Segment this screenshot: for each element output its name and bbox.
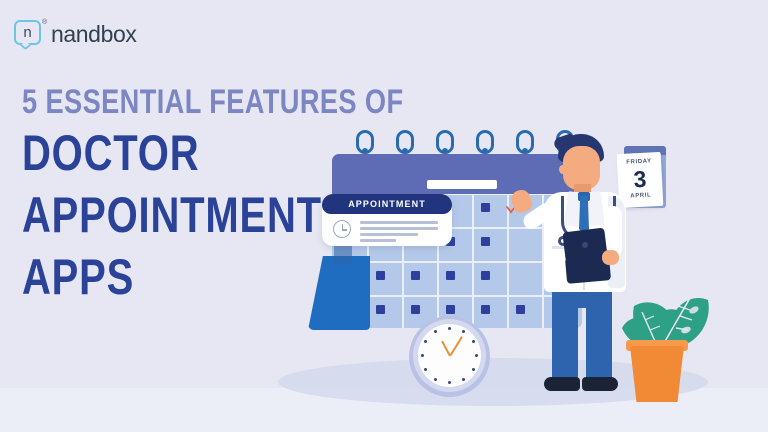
clock-minute-hand bbox=[449, 336, 463, 356]
doctor-leg-left bbox=[552, 284, 578, 382]
brand-wordmark: nandbox bbox=[51, 21, 136, 48]
doctor-leg-right bbox=[586, 284, 612, 382]
registered-trademark-icon: ® bbox=[42, 19, 47, 26]
clock-face bbox=[418, 324, 481, 387]
wall-clock bbox=[409, 316, 490, 397]
headline-line-1: 5 ESSENTIAL FEATURES OF bbox=[22, 82, 318, 122]
banner-canvas: n ® nandbox 5 ESSENTIAL FEATURES OF DOCT… bbox=[0, 0, 768, 432]
calendar-ring-icon bbox=[476, 130, 494, 154]
headline-line-2: DOCTOR bbox=[22, 122, 318, 184]
appointment-card[interactable]: APPOINTMENT bbox=[322, 194, 452, 246]
calendar-ring-icon bbox=[396, 130, 414, 154]
calendar-stand bbox=[308, 256, 370, 330]
logo-letter: n bbox=[14, 20, 41, 45]
headline-line-4: APPS bbox=[22, 246, 318, 308]
calendar-ring-icon bbox=[356, 130, 374, 154]
doctor-character bbox=[530, 134, 650, 402]
brand-logo[interactable]: n ® nandbox bbox=[14, 20, 136, 48]
hero-illustration: APPOINTMENT bbox=[280, 120, 750, 420]
appointment-card-title: APPOINTMENT bbox=[322, 194, 452, 214]
headline-line-3: APPOINTMENT bbox=[22, 184, 318, 246]
doctor-ear bbox=[559, 165, 566, 174]
doctor-shoe-left bbox=[544, 377, 580, 391]
clock-icon bbox=[333, 220, 351, 238]
doctor-shoe-right bbox=[582, 377, 618, 391]
nandbox-mark-icon: n ® bbox=[14, 20, 41, 47]
doctor-hand-left bbox=[602, 250, 619, 265]
calendar-title-placeholder bbox=[427, 180, 497, 189]
calendar-ring-icon bbox=[436, 130, 454, 154]
